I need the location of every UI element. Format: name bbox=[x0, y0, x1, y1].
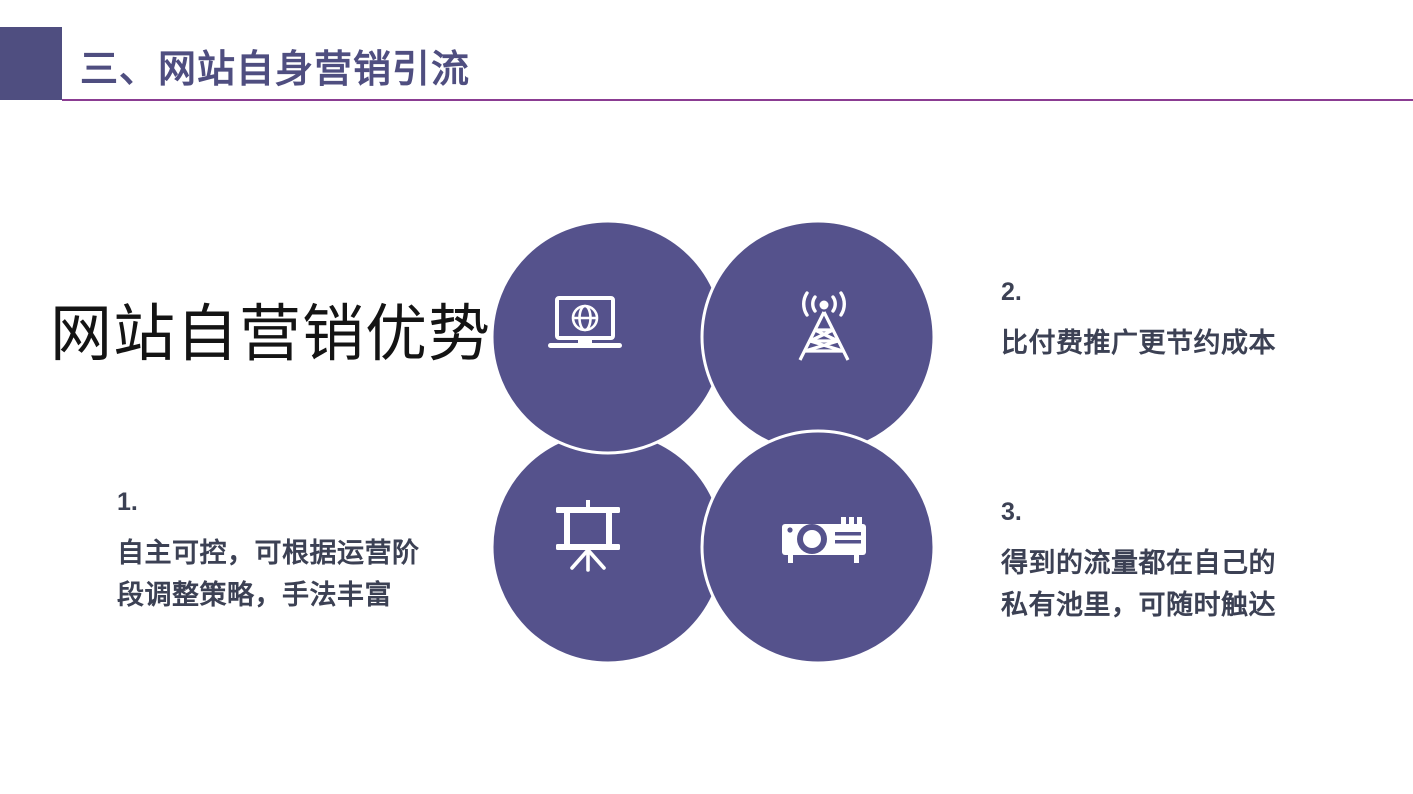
venn-diagram bbox=[490, 215, 940, 665]
broadcast-tower-icon bbox=[785, 288, 863, 364]
info-block-3: 3. 得到的流量都在自己的 私有池里，可随时触达 bbox=[1001, 500, 1276, 627]
slide: 三、网站自身营销引流 网站自营销优势 1. 自主可控，可根据运营阶 段调整策略，… bbox=[0, 0, 1413, 794]
header-accent-block bbox=[0, 27, 62, 100]
section-heading: 网站自营销优势 bbox=[50, 283, 491, 373]
info-block-1: 1. 自主可控，可根据运营阶 段调整策略，手法丰富 bbox=[117, 490, 420, 617]
info-text-2-line-1: 比付费推广更节约成本 bbox=[1001, 323, 1276, 365]
info-number-2: 2. bbox=[1001, 280, 1276, 305]
info-text-3-line-2: 私有池里，可随时触达 bbox=[1001, 585, 1276, 627]
info-text-1-line-2: 段调整策略，手法丰富 bbox=[117, 575, 420, 617]
laptop-globe-icon bbox=[546, 296, 624, 354]
page-title: 三、网站自身营销引流 bbox=[80, 38, 470, 93]
info-text-1-line-1: 自主可控，可根据运营阶 bbox=[117, 533, 420, 575]
info-block-2: 2. 比付费推广更节约成本 bbox=[1001, 280, 1276, 365]
projector-icon bbox=[781, 512, 867, 566]
info-number-3: 3. bbox=[1001, 500, 1276, 525]
info-number-1: 1. bbox=[117, 490, 420, 515]
presentation-board-icon bbox=[552, 500, 624, 572]
header-divider bbox=[62, 99, 1413, 101]
info-text-3-line-1: 得到的流量都在自己的 bbox=[1001, 543, 1276, 585]
